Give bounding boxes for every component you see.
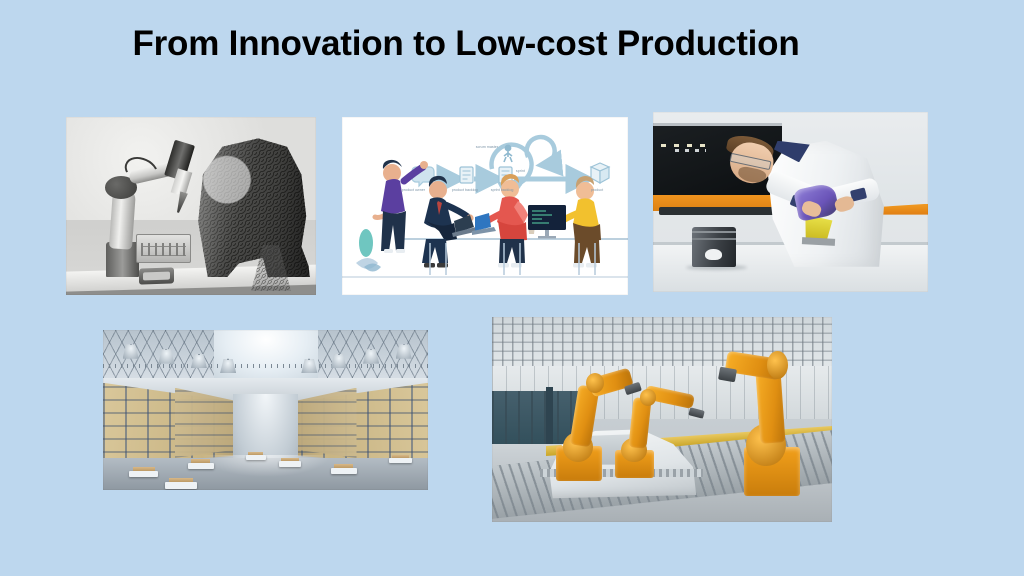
piston-ring-1 xyxy=(692,231,736,233)
agv-robot-5 xyxy=(331,468,357,474)
piston-ring-2 xyxy=(692,238,736,240)
product-backlog-icon xyxy=(460,167,473,183)
product-icon xyxy=(591,163,609,183)
illustration-canvas: product owner product backlog sprint bac… xyxy=(342,117,628,295)
piston-aperture xyxy=(705,249,722,260)
warehouse-truss-beam xyxy=(103,364,428,369)
machine-indicator-lights xyxy=(661,144,710,147)
robot-middle-gripper xyxy=(688,408,705,420)
flow-label-2: sprint backlog xyxy=(490,188,513,192)
lattice-print-object xyxy=(191,138,311,277)
flow-label-0: product owner xyxy=(402,188,425,192)
image-robot-lattice xyxy=(66,117,316,295)
agv-robot-2 xyxy=(165,482,198,489)
slide-canvas: From Innovation to Low-cost Production xyxy=(0,0,1024,576)
agile-diagram-svg xyxy=(342,117,628,295)
robot-arm-middle xyxy=(608,379,724,498)
machine-control-panel xyxy=(675,149,706,152)
machine-handle-bar xyxy=(659,207,775,214)
lattice-shading xyxy=(191,138,311,277)
floor-light-reflection xyxy=(201,455,331,477)
controller-box xyxy=(136,234,191,262)
flow-label-3: product xyxy=(591,188,603,192)
image-agile-workflow: product owner product backlog sprint bac… xyxy=(342,117,628,295)
plant-decor xyxy=(356,229,381,272)
cycle-label-sprint: sprint xyxy=(516,169,525,173)
image-lab-scientist xyxy=(653,112,928,292)
image-warehouse xyxy=(103,330,428,490)
robot-right-welding-tool xyxy=(718,366,737,382)
agv-robot-3 xyxy=(246,455,266,460)
agv-robot-1 xyxy=(188,463,214,469)
agv-robot-4 xyxy=(279,461,302,466)
robot-right-elbow xyxy=(767,351,788,379)
robot-right-upper-arm xyxy=(756,370,786,444)
scrum-master-icon xyxy=(504,145,512,162)
image-robot-assembly xyxy=(492,317,832,522)
agv-robot-6 xyxy=(389,458,412,463)
flow-label-1: product backlog xyxy=(452,188,478,192)
agv-robot-0 xyxy=(129,471,158,477)
bench-tool-tray xyxy=(139,268,174,285)
robot-middle-elbow xyxy=(640,389,656,406)
printed-piston xyxy=(692,227,736,267)
page-title: From Innovation to Low-cost Production xyxy=(0,24,1024,64)
cycle-label-scrum-master: scrum master xyxy=(476,145,498,149)
robot-arm-right xyxy=(716,342,832,506)
